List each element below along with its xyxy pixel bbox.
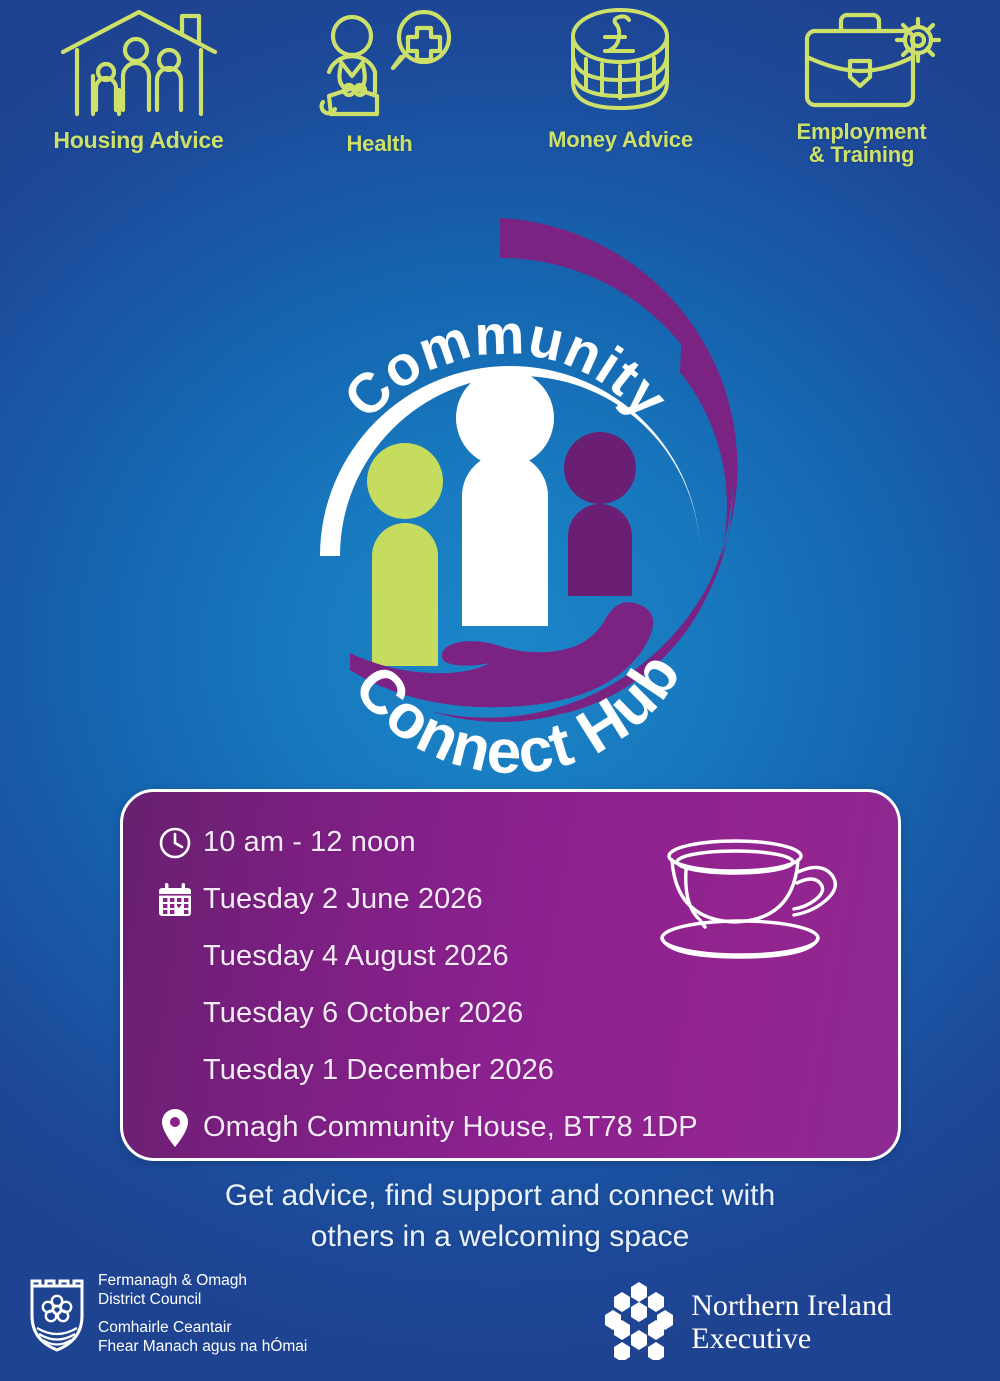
service-housing-advice: Housing Advice xyxy=(23,6,255,152)
ni-executive-line1: Northern Ireland xyxy=(691,1289,892,1322)
map-pin-icon xyxy=(147,1108,203,1148)
service-employment-training: Employment & Training xyxy=(746,6,978,166)
service-label-line2: & Training xyxy=(809,142,915,167)
tagline-line2: others in a welcoming space xyxy=(0,1217,1000,1258)
fermanagh-omagh-crest-icon xyxy=(26,1272,88,1357)
service-label: Health xyxy=(346,132,412,155)
services-row: Housing Advice Heal xyxy=(0,0,1000,196)
panel-row-date-3: Tuesday 6 October 2026 xyxy=(147,985,847,1042)
ni-executive-text: Northern Ireland Executive xyxy=(691,1290,892,1354)
tagline-line1: Get advice, find support and connect wit… xyxy=(0,1176,1000,1217)
council-name-ga-line1: Comhairle Ceantair xyxy=(98,1319,232,1336)
council-name-en-line2: District Council xyxy=(98,1291,201,1308)
service-label: Housing Advice xyxy=(53,128,223,152)
panel-row-text: 10 am - 12 noon xyxy=(203,826,416,859)
ni-executive-hexagon-icon xyxy=(601,1280,677,1365)
council-name-ga-line2: Fhear Manach agus na hÓmai xyxy=(98,1338,307,1355)
panel-row-date-1: Tuesday 2 June 2026 xyxy=(147,871,847,928)
service-money-advice: Money Advice xyxy=(505,6,737,151)
panel-row-text: Tuesday 2 June 2026 xyxy=(203,883,483,916)
panel-row-date-2: Tuesday 4 August 2026 xyxy=(147,928,847,985)
panel-row-location: Omagh Community House, BT78 1DP xyxy=(147,1099,847,1156)
community-connect-hub-logo: Community Connect Hub xyxy=(262,196,742,776)
panel-row-text: Tuesday 4 August 2026 xyxy=(203,940,509,973)
service-label-line1: Employment xyxy=(796,119,926,144)
details-panel: 10 am - 12 noon xyxy=(120,789,901,1161)
doctor-health-icon xyxy=(305,10,455,128)
poster-canvas: Housing Advice Heal xyxy=(0,0,1000,1381)
service-label: Employment & Training xyxy=(796,120,926,166)
panel-row-text: Tuesday 1 December 2026 xyxy=(203,1054,554,1087)
service-label: Money Advice xyxy=(548,128,693,151)
fermanagh-omagh-council-logo: Fermanagh & Omagh District Council Comha… xyxy=(26,1272,307,1357)
tagline: Get advice, find support and connect wit… xyxy=(0,1176,1000,1257)
calendar-icon xyxy=(147,882,203,918)
ni-executive-line2: Executive xyxy=(691,1322,811,1355)
panel-row-text: Tuesday 6 October 2026 xyxy=(203,997,523,1030)
footer: Fermanagh & Omagh District Council Comha… xyxy=(0,1258,1000,1381)
council-name-gap xyxy=(98,1310,307,1319)
pound-coins-icon xyxy=(558,6,683,124)
panel-row-time: 10 am - 12 noon xyxy=(147,814,847,871)
panel-rows: 10 am - 12 noon xyxy=(147,814,847,1156)
council-name-en-line1: Fermanagh & Omagh xyxy=(98,1272,247,1289)
ni-executive-logo: Northern Ireland Executive xyxy=(601,1280,892,1365)
panel-row-text: Omagh Community House, BT78 1DP xyxy=(203,1111,698,1144)
council-name: Fermanagh & Omagh District Council Comha… xyxy=(98,1272,307,1357)
clock-icon xyxy=(147,826,203,860)
service-health: Health xyxy=(264,10,496,155)
panel-row-date-4: Tuesday 1 December 2026 xyxy=(147,1042,847,1099)
briefcase-gear-icon xyxy=(779,6,944,124)
house-family-icon xyxy=(49,6,229,124)
